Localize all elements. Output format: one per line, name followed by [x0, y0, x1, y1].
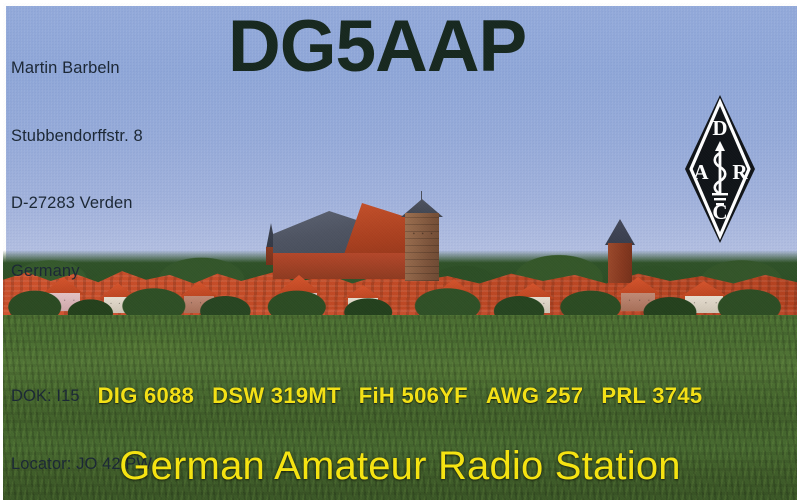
qsl-card: D A R C Martin Barbeln Stubbendorffstr. …: [0, 0, 800, 503]
darc-letter-r: R: [732, 160, 748, 184]
cathedral-mast: [421, 191, 422, 201]
operator-street: Stubbendorffstr. 8: [11, 125, 156, 148]
cathedral-tower-windows: [405, 213, 439, 281]
membership-awg: AWG 257: [486, 383, 583, 409]
darc-diamond-logo: D A R C: [683, 93, 757, 245]
card-banner: German Amateur Radio Station: [0, 442, 800, 490]
village-church-roof: [605, 219, 635, 245]
darc-letter-a: A: [693, 160, 709, 184]
membership-numbers: DIG 6088DSW 319MTFiH 506YFAWG 257PRL 374…: [0, 383, 800, 409]
callsign: DG5AAP: [228, 3, 526, 91]
membership-dsw: DSW 319MT: [212, 383, 341, 409]
address-spacer: [11, 327, 156, 340]
membership-dig: DIG 6088: [98, 383, 195, 409]
darc-letter-d: D: [712, 116, 727, 140]
cathedral-tower: [405, 213, 439, 281]
village-church-tower: [603, 219, 637, 281]
operator-country: Germany: [11, 260, 156, 283]
membership-fih: FiH 506YF: [359, 383, 468, 409]
verden-cathedral: [255, 189, 455, 289]
operator-address-block: Martin Barbeln Stubbendorffstr. 8 D-2728…: [11, 12, 156, 503]
membership-prl: PRL 3745: [601, 383, 702, 409]
operator-name: Martin Barbeln: [11, 57, 156, 80]
operator-city: D-27283 Verden: [11, 192, 156, 215]
